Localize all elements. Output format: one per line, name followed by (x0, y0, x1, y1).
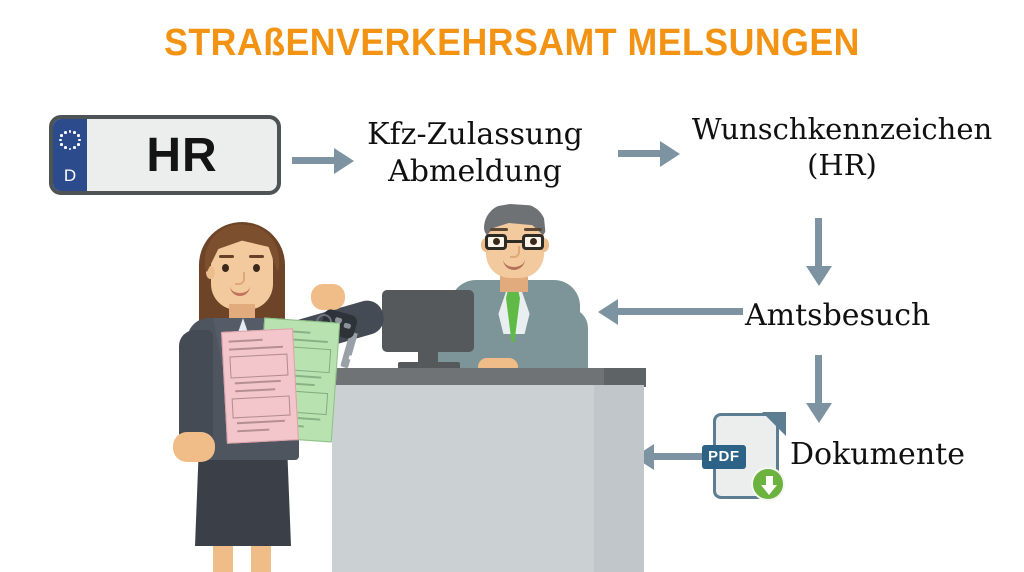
customer-leg-left (213, 544, 233, 572)
customer-eyebrow-right (249, 255, 264, 258)
arrow-shaft (618, 150, 662, 157)
arrow-left-amtsbesuch-to-desk (598, 299, 743, 321)
arrow-shaft (815, 218, 822, 268)
arrow-head (598, 299, 618, 325)
arrow-down-wunschkennzeichen-to-amtsbesuch (806, 218, 832, 286)
arrow-down-amtsbesuch-to-dokumente (806, 355, 832, 423)
clerk-eyebrow-left (490, 228, 508, 231)
flow-label-dokumente: Dokumente (790, 437, 1020, 474)
plate-country-code: D (53, 166, 87, 186)
customer-eyebrow-left (219, 255, 234, 258)
download-icon (751, 467, 785, 501)
customer-eye-left (222, 264, 229, 272)
pdf-folded-corner-icon (762, 412, 786, 436)
clerk-eyebrow-right (524, 228, 542, 231)
plate-registration-text: HR (87, 119, 277, 191)
arrow-head (806, 266, 832, 286)
vehicle-documents (218, 320, 358, 445)
pdf-document-icon: PDF (713, 413, 785, 501)
customer-eye-right (253, 264, 260, 272)
arrow-shaft (616, 308, 743, 315)
arrow-shaft (815, 355, 822, 405)
eu-strip: D (53, 119, 87, 191)
flow-label-wunschkennzeichen: Wunschkennzeichen (HR) (660, 112, 1024, 183)
customer-hand-right (311, 284, 345, 310)
eu-stars-icon (59, 130, 81, 152)
clerk-arm-right (536, 308, 588, 370)
page-title: STRAßENVERKEHRSAMT MELSUNGEN (31, 22, 994, 65)
flow-label-amtsbesuch: Amtsbesuch (745, 298, 1005, 335)
customer-leg-right (251, 544, 271, 572)
clerk-eye-right (530, 238, 537, 245)
monitor-screen (382, 290, 474, 352)
customer-hand-left (173, 432, 215, 462)
license-plate: D HR (49, 115, 281, 195)
illustration-canvas: STRAßENVERKEHRSAMT MELSUNGEN D HR (0, 0, 1024, 572)
desk-side-panel (594, 385, 644, 572)
pdf-badge-label: PDF (702, 445, 746, 469)
customer-arm-left (179, 330, 213, 448)
document-pink-license (221, 328, 299, 444)
flow-label-kfz-zulassung: Kfz-Zulassung Abmeldung (330, 117, 620, 191)
arrow-head (806, 403, 832, 423)
download-arrow-head (761, 485, 777, 495)
glasses-bridge (507, 240, 522, 243)
customer-skirt (195, 448, 291, 546)
clerk-eye-left (493, 238, 500, 245)
